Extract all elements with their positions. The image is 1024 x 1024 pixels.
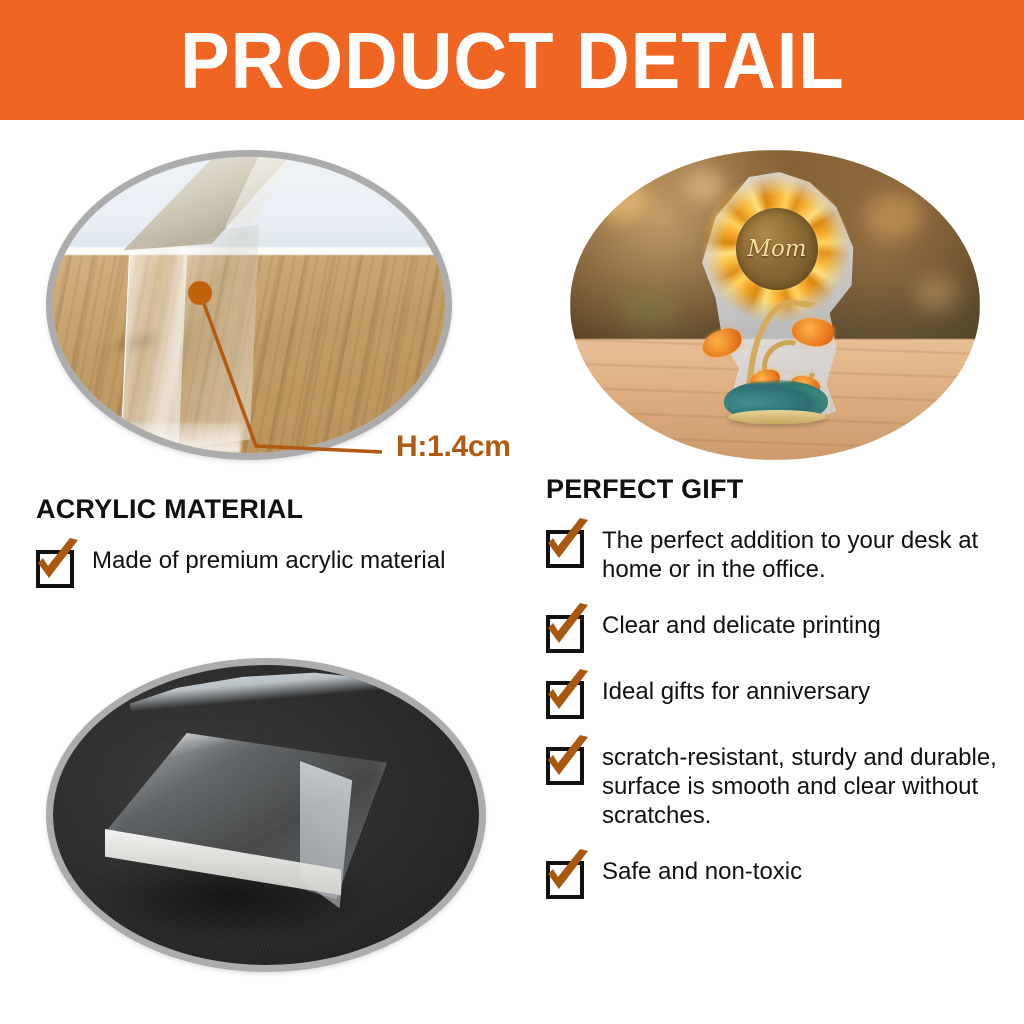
list-item: Safe and non-toxic [546, 852, 1006, 896]
sunflower-acrylic-stand: Mom [688, 172, 863, 424]
bokeh-light [865, 193, 923, 239]
feature-text: Safe and non-toxic [602, 852, 802, 886]
list-item: scratch-resistant, sturdy and durable, s… [546, 738, 1006, 830]
list-item: The perfect addition to your desk at hom… [546, 521, 1006, 584]
section-acrylic-material: ACRYLIC MATERIAL Made of premium acrylic… [36, 494, 516, 585]
acrylic-bottom-glow [120, 423, 241, 453]
acrylic-side-face [176, 224, 260, 448]
page-title: PRODUCT DETAIL [180, 21, 845, 101]
slate-edge-highlight [130, 671, 428, 713]
list-item: Ideal gifts for anniversary [546, 672, 1006, 716]
callout-height-label: H:1.4cm [396, 430, 511, 464]
bokeh-light [619, 286, 679, 330]
check-icon [546, 856, 586, 896]
acrylic-blank-block [105, 733, 387, 929]
feature-text: scratch-resistant, sturdy and durable, s… [602, 738, 1006, 830]
list-item: Clear and delicate printing [546, 606, 1006, 650]
list-item: Made of premium acrylic material [36, 541, 516, 585]
check-icon [546, 525, 586, 565]
acrylic-edge-photo [46, 150, 452, 460]
feature-list-acrylic-material: Made of premium acrylic material [36, 541, 516, 585]
stand-base [728, 410, 826, 424]
section-heading-acrylic-material: ACRYLIC MATERIAL [36, 494, 516, 525]
check-icon [546, 742, 586, 782]
sunflower-center-disc: Mom [736, 208, 818, 290]
page-header-banner: PRODUCT DETAIL [0, 0, 1024, 120]
feature-text: Clear and delicate printing [602, 606, 881, 640]
engraved-name-text: Mom [747, 236, 806, 262]
feature-text: Made of premium acrylic material [92, 541, 445, 575]
section-perfect-gift: PERFECT GIFT The perfect addition to you… [546, 474, 1006, 896]
sunflower-ornament-photo: Mom [570, 150, 980, 460]
feature-text: Ideal gifts for anniversary [602, 672, 870, 706]
feature-text: The perfect addition to your desk at hom… [602, 521, 1006, 584]
check-icon [36, 545, 76, 585]
check-icon [546, 610, 586, 650]
feature-list-perfect-gift: The perfect addition to your desk at hom… [546, 521, 1006, 896]
bokeh-light [595, 181, 647, 221]
bokeh-light [914, 274, 958, 312]
check-icon [546, 676, 586, 716]
acrylic-block-upright [120, 151, 265, 451]
acrylic-blank-photo [46, 658, 486, 972]
section-heading-perfect-gift: PERFECT GIFT [546, 474, 1006, 505]
